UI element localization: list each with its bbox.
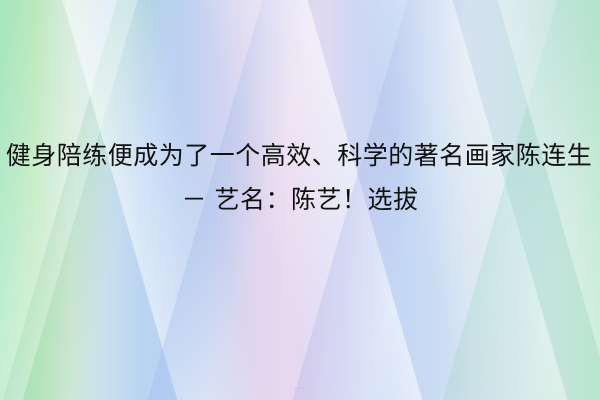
- watermark-text: ···: [0, 383, 600, 394]
- banner-headline: 健身陪练便成为了一个高效、科学的著名画家陈连生 － 艺名：陈艺！选拔: [0, 134, 600, 222]
- promo-banner: 健身陪练便成为了一个高效、科学的著名画家陈连生 － 艺名：陈艺！选拔 ···: [0, 0, 600, 400]
- headline-line-2: － 艺名：陈艺！选拔: [0, 178, 600, 222]
- headline-line-1: 健身陪练便成为了一个高效、科学的著名画家陈连生: [0, 134, 600, 178]
